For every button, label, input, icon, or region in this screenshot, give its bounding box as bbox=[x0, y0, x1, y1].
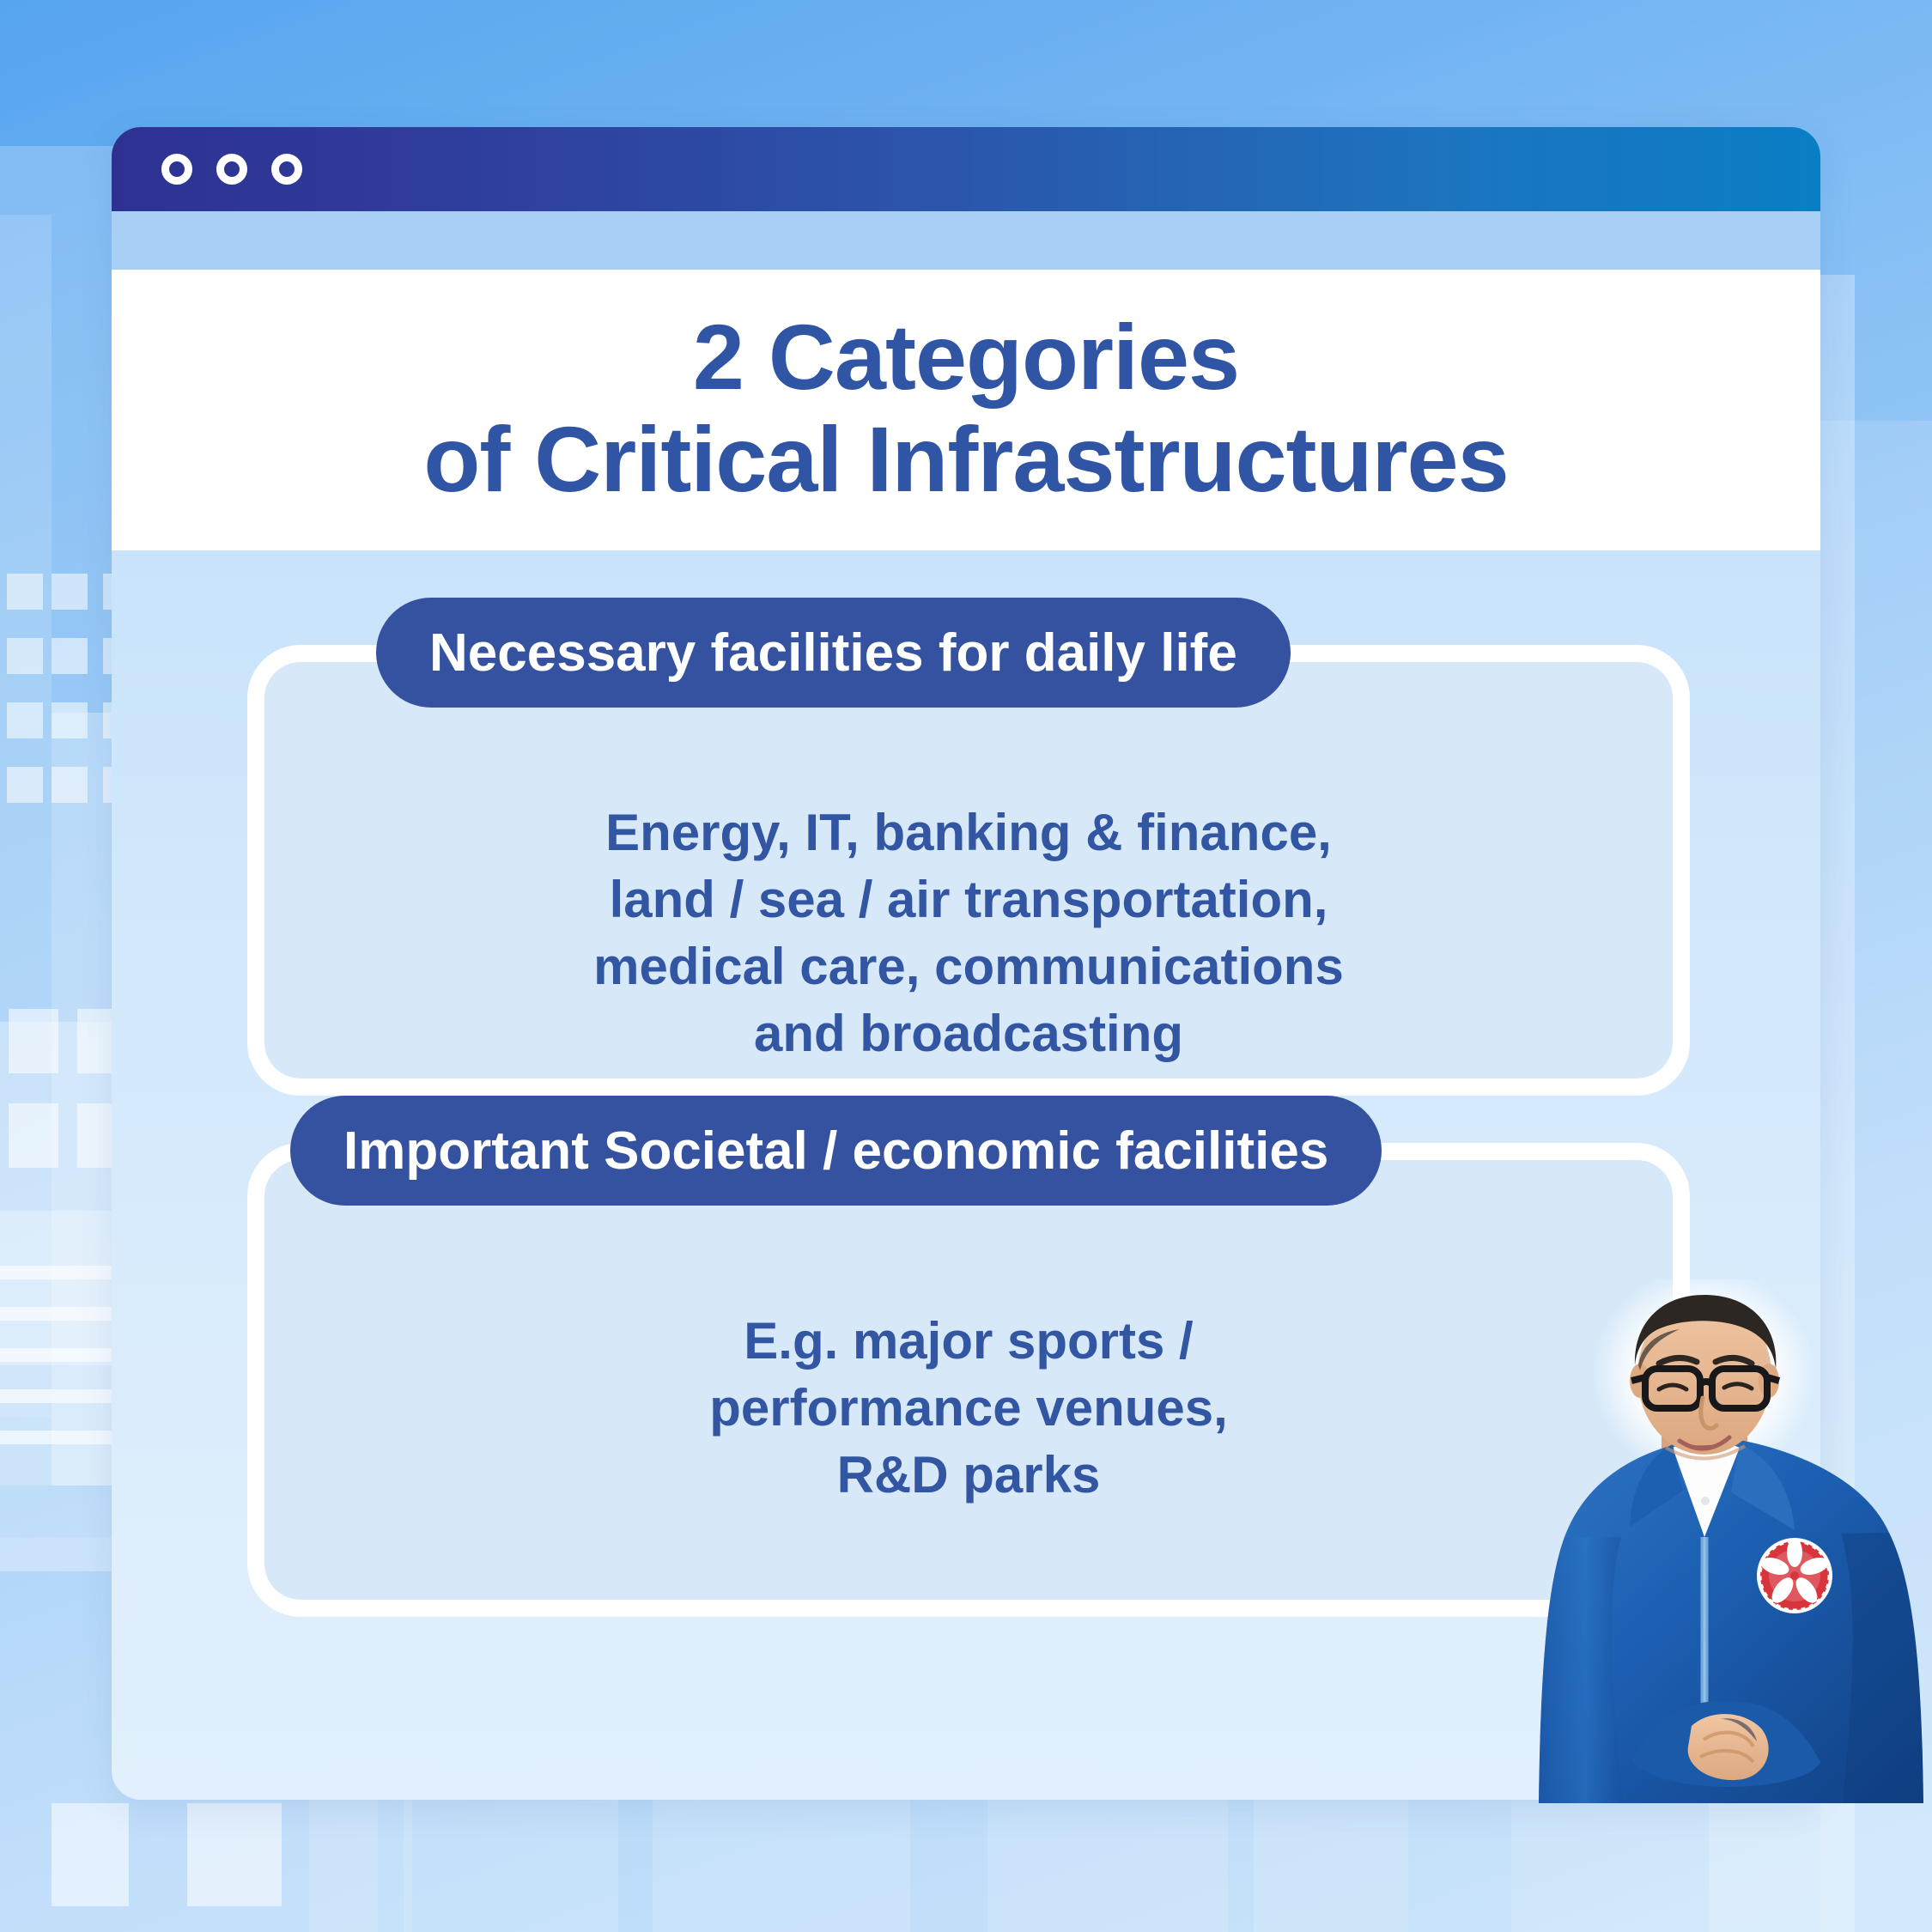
browser-titlebar bbox=[112, 127, 1820, 211]
window-dot-close-icon[interactable] bbox=[161, 154, 192, 185]
poster-root: 2 Categories of Critical Infrastructures… bbox=[0, 0, 1932, 1932]
window-dot-maximize-icon[interactable] bbox=[271, 154, 302, 185]
category-card-1: Energy, IT, banking & finance, land / se… bbox=[247, 645, 1690, 1096]
window-light bbox=[52, 702, 88, 738]
window-light bbox=[52, 638, 88, 674]
category-1-pill-label: Necessary facilities for daily life bbox=[376, 598, 1291, 708]
category-1-line-2: land / sea / air transportation, bbox=[264, 866, 1673, 933]
window-light bbox=[7, 702, 43, 738]
building bbox=[1820, 421, 1932, 1932]
window-light bbox=[52, 1803, 129, 1906]
browser-toolbar bbox=[112, 211, 1820, 270]
category-2-pill-label: Important Societal / economic facilities bbox=[290, 1096, 1382, 1206]
category-1-line-1: Energy, IT, banking & finance, bbox=[264, 799, 1673, 866]
category-1-line-3: medical care, communications bbox=[264, 933, 1673, 1000]
browser-window: 2 Categories of Critical Infrastructures… bbox=[112, 127, 1820, 1800]
window-light bbox=[9, 1103, 58, 1168]
window-light bbox=[52, 767, 88, 803]
window-light bbox=[7, 767, 43, 803]
window-light bbox=[187, 1803, 282, 1906]
window-light bbox=[52, 574, 88, 610]
category-2-line-2: performance venues, bbox=[264, 1375, 1673, 1442]
category-2-line-1: E.g. major sports / bbox=[264, 1308, 1673, 1375]
window-controls bbox=[161, 154, 302, 185]
category-1-line-4: and broadcasting bbox=[264, 1000, 1673, 1067]
page-title-line-2: of Critical Infrastructures bbox=[423, 406, 1508, 512]
category-card-2-body: E.g. major sports / performance venues, … bbox=[264, 1308, 1673, 1509]
window-light bbox=[7, 638, 43, 674]
jacket-right-sleeve bbox=[1841, 1533, 1923, 1803]
browser-content: Energy, IT, banking & finance, land / se… bbox=[112, 550, 1820, 1800]
title-panel: 2 Categories of Critical Infrastructures bbox=[112, 270, 1820, 550]
category-card-1-body: Energy, IT, banking & finance, land / se… bbox=[264, 799, 1673, 1067]
category-2-line-3: R&D parks bbox=[264, 1442, 1673, 1509]
window-light bbox=[9, 1009, 58, 1073]
category-card-2: E.g. major sports / performance venues, … bbox=[247, 1143, 1690, 1617]
page-title-line-1: 2 Categories bbox=[693, 308, 1239, 406]
building bbox=[0, 215, 52, 1417]
window-dot-minimize-icon[interactable] bbox=[216, 154, 247, 185]
window-light bbox=[7, 574, 43, 610]
